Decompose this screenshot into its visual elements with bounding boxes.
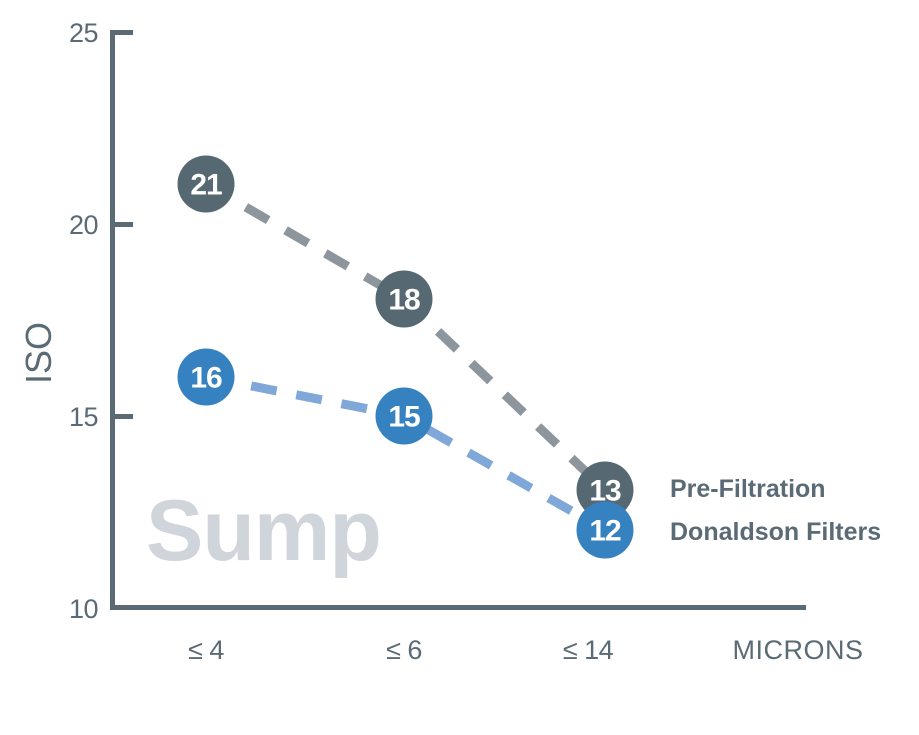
x-axis-units-label: MICRONS [733, 635, 864, 665]
data-point-pre-filtration-2[interactable]: 18 [376, 271, 433, 328]
marker-value: 18 [388, 284, 420, 317]
y-tick-label-10: 10 [69, 594, 98, 624]
y-tick-label-25: 25 [69, 18, 98, 48]
x-tick-label-1: ≤ 4 [188, 635, 224, 665]
marker-value: 16 [190, 362, 222, 395]
y-axis-title: ISO [18, 322, 59, 384]
data-point-donaldson-3[interactable]: 12 [577, 502, 634, 559]
data-point-donaldson-2[interactable]: 15 [376, 388, 433, 445]
iso-cleanliness-line-chart: Sump 25 20 15 10 ISO ≤ 4 ≤ 6 ≤ 14 MICRON… [0, 0, 919, 735]
marker-value: 12 [589, 515, 621, 548]
legend-label-pre-filtration[interactable]: Pre-Filtration [670, 475, 826, 503]
legend-label-donaldson-filters[interactable]: Donaldson Filters [670, 518, 881, 546]
marker-value: 15 [388, 401, 420, 434]
data-point-pre-filtration-1[interactable]: 21 [178, 156, 235, 213]
marker-value: 21 [190, 169, 222, 202]
y-tick-label-15: 15 [69, 402, 98, 432]
y-tick-label-20: 20 [69, 210, 98, 240]
data-point-donaldson-1[interactable]: 16 [178, 349, 235, 406]
watermark-sump: Sump [146, 483, 381, 579]
x-tick-label-3: ≤ 14 [563, 635, 614, 665]
chart-container: Sump 25 20 15 10 ISO ≤ 4 ≤ 6 ≤ 14 MICRON… [0, 0, 919, 735]
x-tick-label-2: ≤ 6 [386, 635, 422, 665]
